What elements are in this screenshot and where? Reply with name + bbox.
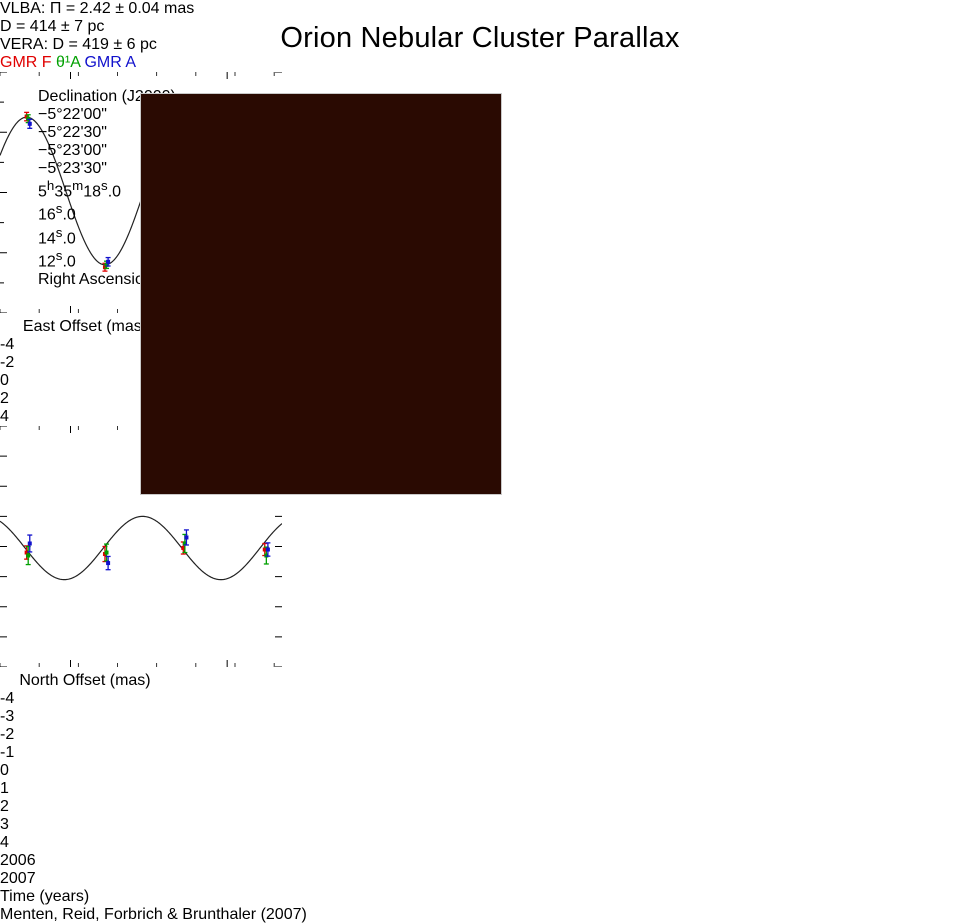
vlba-parallax-line: VLBA: Π = 2.42 ± 0.04 mas <box>0 0 960 18</box>
vlba-label: VLBA: <box>0 0 45 17</box>
y-tick-label: 4 <box>0 834 960 852</box>
vlba-parallax-value: Π = 2.42 ± 0.04 mas <box>50 0 194 17</box>
y-tick-label: -3 <box>0 708 960 726</box>
legend-item-theta1-a: θ¹A <box>56 54 80 71</box>
y-tick-label: -2 <box>0 726 960 744</box>
y-tick-label: -1 <box>0 744 960 762</box>
x-tick-label: 2007 <box>0 870 960 888</box>
plot-legend: GMR F θ¹A GMR A <box>0 54 960 72</box>
y-tick-label: 3 <box>0 816 960 834</box>
y-tick-label: 2 <box>0 798 960 816</box>
page-title: Orion Nebular Cluster Parallax <box>0 22 960 55</box>
sky-image-block: Declination (J2000) −5°22'00" −5°22'30" … <box>38 88 538 538</box>
time-axis-tick-labels: 20062007 <box>0 852 960 888</box>
x-tick-label: 2006 <box>0 852 960 870</box>
y-tick-label: -4 <box>0 690 960 708</box>
north-offset-tick-labels: -4-3-2-101234 <box>0 690 960 852</box>
nebula-image: GMR A GMR F GMR G A/GMR 12 B C D E θ¹A <box>140 93 502 495</box>
y-tick-label: 1 <box>0 780 960 798</box>
legend-item-gmr-f: GMR F <box>0 54 52 71</box>
citation: Menten, Reid, Forbrich & Brunthaler (200… <box>0 906 960 924</box>
north-offset-axis-title: North Offset (mas) <box>0 672 170 690</box>
legend-item-gmr-a: GMR A <box>84 54 136 71</box>
time-axis-title: Time (years) <box>0 888 960 906</box>
y-tick-label: 0 <box>0 762 960 780</box>
trapezium-core-glow <box>141 94 501 494</box>
